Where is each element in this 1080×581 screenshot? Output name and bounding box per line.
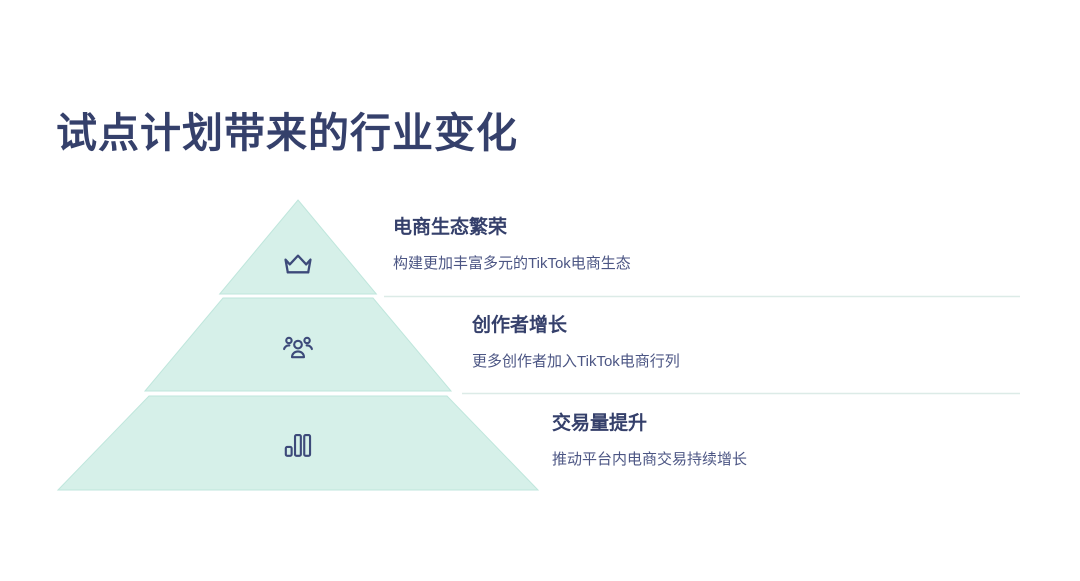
- tier-description-2: 更多创作者加入TikTok电商行列: [472, 352, 680, 372]
- users-group-icon: [281, 330, 315, 364]
- tier-text-block-3: 交易量提升 推动平台内电商交易持续增长: [552, 412, 747, 469]
- tier-description-1: 构建更加丰富多元的TikTok电商生态: [393, 254, 631, 274]
- tier-text-block-2: 创作者增长 更多创作者加入TikTok电商行列: [472, 314, 680, 371]
- tier-description-3: 推动平台内电商交易持续增长: [552, 450, 747, 470]
- bar-chart-icon: [281, 428, 315, 462]
- tier-heading-1: 电商生态繁荣: [393, 216, 631, 241]
- crown-icon: [281, 248, 315, 282]
- pyramid-diagram: [0, 0, 1080, 581]
- tier-heading-3: 交易量提升: [552, 412, 747, 437]
- tier-text-block-1: 电商生态繁荣 构建更加丰富多元的TikTok电商生态: [393, 216, 631, 273]
- tier-heading-2: 创作者增长: [472, 314, 680, 339]
- slide-canvas: 试点计划带来的行业变化: [0, 0, 1080, 581]
